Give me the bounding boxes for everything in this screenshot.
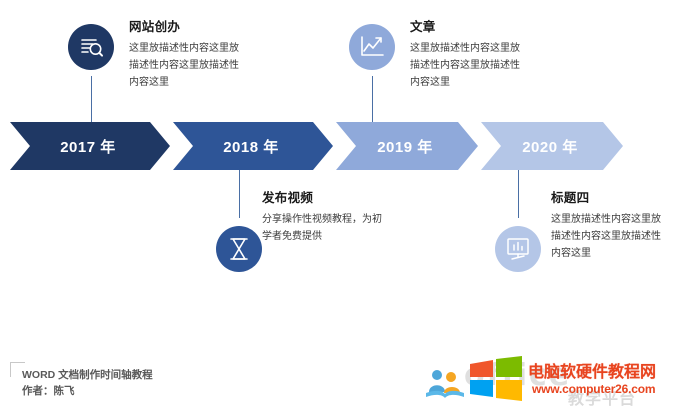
milestone-desc-line: 这里放描述性内容这里放 — [410, 40, 520, 57]
people-book-logo-icon — [424, 366, 466, 405]
milestone-title: 标题四 — [551, 187, 661, 206]
watermark-brand: 电脑软硬件教程网 — [528, 358, 656, 382]
connector-stem-4 — [518, 170, 519, 218]
milestone-desc-line: 这里放描述性内容这里放 — [129, 40, 239, 57]
milestone-title: 网站创办 — [129, 16, 239, 35]
timeline-year-label: 2020 年 — [522, 136, 578, 157]
milestone-text-block-3: 文章 这里放描述性内容这里放 描述性内容这里放描述性 内容这里 — [410, 16, 520, 91]
milestone-desc-line: 这里放描述性内容这里放 — [551, 211, 661, 228]
milestone-icon-circle-4[interactable] — [495, 226, 541, 272]
milestone-desc-line: 内容这里 — [129, 74, 239, 91]
timeline-year-label: 2019 年 — [377, 136, 433, 157]
timeline-chevron-2017[interactable]: 2017 年 — [10, 122, 170, 170]
milestone-title: 发布视频 — [262, 187, 382, 206]
timeline-chevron-2019[interactable]: 2019 年 — [336, 122, 478, 170]
timeline-chevron-2018[interactable]: 2018 年 — [173, 122, 333, 170]
hourglass-icon — [227, 236, 251, 262]
connector-stem-1 — [91, 76, 92, 122]
milestone-desc-line: 描述性内容这里放描述性 — [551, 228, 661, 245]
milestone-text-block-1: 网站创办 这里放描述性内容这里放 描述性内容这里放描述性 内容这里 — [129, 16, 239, 91]
timeline-chevron-2020[interactable]: 2020 年 — [481, 122, 623, 170]
footer: WORD 文档制作时间轴教程 作者：陈飞 — [22, 367, 153, 399]
milestone-icon-circle-1[interactable] — [68, 24, 114, 70]
footer-author: 作者：陈飞 — [22, 383, 153, 399]
milestone-desc-line: 内容这里 — [410, 74, 520, 91]
milestone-desc-line: 分享操作性视频教程，为初 — [262, 211, 382, 228]
timeline-year-label: 2018 年 — [223, 136, 279, 157]
milestone-text-block-2: 发布视频 分享操作性视频教程，为初 学者免费提供 — [262, 187, 382, 245]
milestone-icon-circle-2[interactable] — [216, 226, 262, 272]
timeline-year-label: 2017 年 — [60, 136, 116, 157]
milestone-desc-line: 内容这里 — [551, 245, 661, 262]
watermark-url: www.computer26.com — [532, 382, 655, 396]
connector-stem-2 — [239, 170, 240, 218]
milestone-desc-line: 学者免费提供 — [262, 228, 382, 245]
connector-stem-3 — [372, 76, 373, 122]
slide-canvas: 2017 年 2018 年 2019 年 2020 年 — [0, 0, 692, 410]
presentation-chart-icon — [505, 236, 531, 262]
footer-doc-title: WORD 文档制作时间轴教程 — [22, 367, 153, 383]
milestone-text-block-4: 标题四 这里放描述性内容这里放 描述性内容这里放描述性 内容这里 — [551, 187, 661, 262]
watermark: office 教学平台 电脑软硬件教程网 www.computer26.com — [418, 352, 692, 410]
line-chart-icon — [359, 35, 385, 59]
windows-logo-icon — [468, 356, 524, 407]
timeline-bar: 2017 年 2018 年 2019 年 2020 年 — [10, 122, 610, 170]
milestone-desc-line: 描述性内容这里放描述性 — [129, 57, 239, 74]
milestone-title: 文章 — [410, 16, 520, 35]
milestone-icon-circle-3[interactable] — [349, 24, 395, 70]
milestone-desc-line: 描述性内容这里放描述性 — [410, 57, 520, 74]
document-search-icon — [78, 34, 104, 60]
